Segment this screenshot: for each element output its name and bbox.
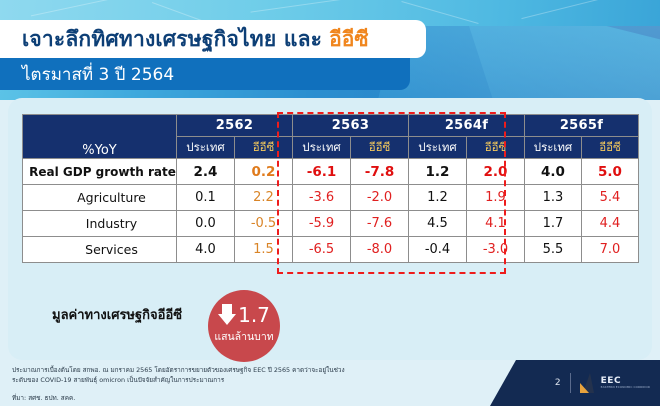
subheader-eec-2562: อีอีซี <box>235 137 293 159</box>
cell-r3-c5: -3.0 <box>467 237 525 263</box>
economic-indicators-table-wrapper: %YoY 2562 2563 2564f 2565f ประเทศ อีอีซี… <box>22 114 638 263</box>
page-title-band: เจาะลึกทิศทางเศรษฐกิจไทย และ อีอีซี <box>0 20 426 58</box>
cell-r3-c6: 5.5 <box>525 237 582 263</box>
cell-r0-c5: 2.0 <box>467 159 525 185</box>
subheader-eec-2565f: อีอีซี <box>582 137 639 159</box>
table-header-year-row: %YoY 2562 2563 2564f 2565f <box>23 115 639 137</box>
table-head: %YoY 2562 2563 2564f 2565f ประเทศ อีอีซี… <box>23 115 639 159</box>
cell-r1-c7: 5.4 <box>582 185 639 211</box>
year-group-2563: 2563 <box>293 115 409 137</box>
cell-r2-c6: 1.7 <box>525 211 582 237</box>
row-label-real-gdp: Real GDP growth rate <box>23 159 177 185</box>
cell-r3-c3: -8.0 <box>351 237 409 263</box>
cell-r2-c2: -5.9 <box>293 211 351 237</box>
cell-r1-c4: 1.2 <box>409 185 467 211</box>
table-row: Real GDP growth rate 2.4 0.2 -6.1 -7.8 1… <box>23 159 639 185</box>
page-title-accent: อีอีซี <box>329 23 368 56</box>
network-line <box>31 0 119 16</box>
subheader-eec-2564f: อีอีซี <box>467 137 525 159</box>
callout-label: มูลค่าทางเศรษฐกิจอีอีซี <box>52 304 182 325</box>
cell-r0-c7: 5.0 <box>582 159 639 185</box>
row-label-industry: Industry <box>23 211 177 237</box>
subheader-eec-2563: อีอีซี <box>351 137 409 159</box>
cell-r2-c5: 4.1 <box>467 211 525 237</box>
subheader-country-2562: ประเทศ <box>177 137 235 159</box>
cell-r3-c4: -0.4 <box>409 237 467 263</box>
cell-r3-c2: -6.5 <box>293 237 351 263</box>
table-body: Real GDP growth rate 2.4 0.2 -6.1 -7.8 1… <box>23 159 639 263</box>
eec-value-callout: มูลค่าทางเศรษฐกิจอีอีซี <box>52 304 182 325</box>
table-row: Agriculture 0.1 2.2 -3.6 -2.0 1.2 1.9 1.… <box>23 185 639 211</box>
page-subtitle-band: ไตรมาสที่ 3 ปี 2564 <box>0 58 410 90</box>
row-label-agriculture: Agriculture <box>23 185 177 211</box>
cell-r0-c3: -7.8 <box>351 159 409 185</box>
cell-r0-c1: 0.2 <box>235 159 293 185</box>
cell-r0-c4: 1.2 <box>409 159 467 185</box>
value-change-badge: 1.7 แสนล้านบาท <box>208 290 280 362</box>
table-row: Services 4.0 1.5 -6.5 -8.0 -0.4 -3.0 5.5… <box>23 237 639 263</box>
page-subtitle: ไตรมาสที่ 3 ปี 2564 <box>22 61 174 88</box>
year-group-2564f: 2564f <box>409 115 525 137</box>
cell-r3-c1: 1.5 <box>235 237 293 263</box>
eec-logo-text: EEC EASTERN ECONOMIC CORRIDOR <box>601 377 650 389</box>
cell-r1-c1: 2.2 <box>235 185 293 211</box>
footer-divider <box>570 373 571 393</box>
footer-source: ที่มา: สศช. ธปท. สคค. <box>12 393 75 403</box>
badge-unit: แสนล้านบาท <box>214 328 273 345</box>
cell-r0-c6: 4.0 <box>525 159 582 185</box>
footer-note: ประมาณการเบื้องต้นโดย สกพอ. ณ มกราคม 256… <box>12 366 572 386</box>
year-group-2565f: 2565f <box>525 115 639 137</box>
cell-r0-c0: 2.4 <box>177 159 235 185</box>
eec-logo-mark-icon <box>580 373 597 393</box>
cell-r3-c0: 4.0 <box>177 237 235 263</box>
network-line <box>521 0 618 19</box>
subheader-country-2563: ประเทศ <box>293 137 351 159</box>
cell-r1-c6: 1.3 <box>525 185 582 211</box>
cell-r2-c3: -7.6 <box>351 211 409 237</box>
badge-value: 1.7 <box>238 305 270 325</box>
network-line <box>250 0 359 13</box>
eec-logo-tagline: EASTERN ECONOMIC CORRIDOR <box>601 386 650 389</box>
cell-r1-c2: -3.6 <box>293 185 351 211</box>
subheader-country-2564f: ประเทศ <box>409 137 467 159</box>
subheader-country-2565f: ประเทศ <box>525 137 582 159</box>
badge-main-row: 1.7 <box>218 304 270 326</box>
cell-r2-c1: -0.5 <box>235 211 293 237</box>
cell-r2-c7: 4.4 <box>582 211 639 237</box>
cell-r2-c4: 4.5 <box>409 211 467 237</box>
row-label-services: Services <box>23 237 177 263</box>
year-group-2562: 2562 <box>177 115 293 137</box>
cell-r3-c7: 7.0 <box>582 237 639 263</box>
cell-r1-c0: 0.1 <box>177 185 235 211</box>
table-corner-label: %YoY <box>23 115 177 159</box>
arrow-down-icon <box>218 304 236 326</box>
footer-note-line1: ประมาณการเบื้องต้นโดย สกพอ. ณ มกราคม 256… <box>12 366 572 376</box>
page-title: เจาะลึกทิศทางเศรษฐกิจไทย และ <box>22 23 322 56</box>
cell-r0-c2: -6.1 <box>293 159 351 185</box>
economic-indicators-table: %YoY 2562 2563 2564f 2565f ประเทศ อีอีซี… <box>22 114 639 263</box>
cell-r1-c3: -2.0 <box>351 185 409 211</box>
eec-logo: EEC EASTERN ECONOMIC CORRIDOR <box>580 373 650 393</box>
footer-note-line2: ระดับของ COVID-19 สายพันธุ์ omicron เป็น… <box>12 376 572 386</box>
cell-r1-c5: 1.9 <box>467 185 525 211</box>
footer-badge-content: 2 EEC EASTERN ECONOMIC CORRIDOR <box>490 360 660 406</box>
table-row: Industry 0.0 -0.5 -5.9 -7.6 4.5 4.1 1.7 … <box>23 211 639 237</box>
page-number: 2 <box>555 378 561 388</box>
cell-r2-c0: 0.0 <box>177 211 235 237</box>
